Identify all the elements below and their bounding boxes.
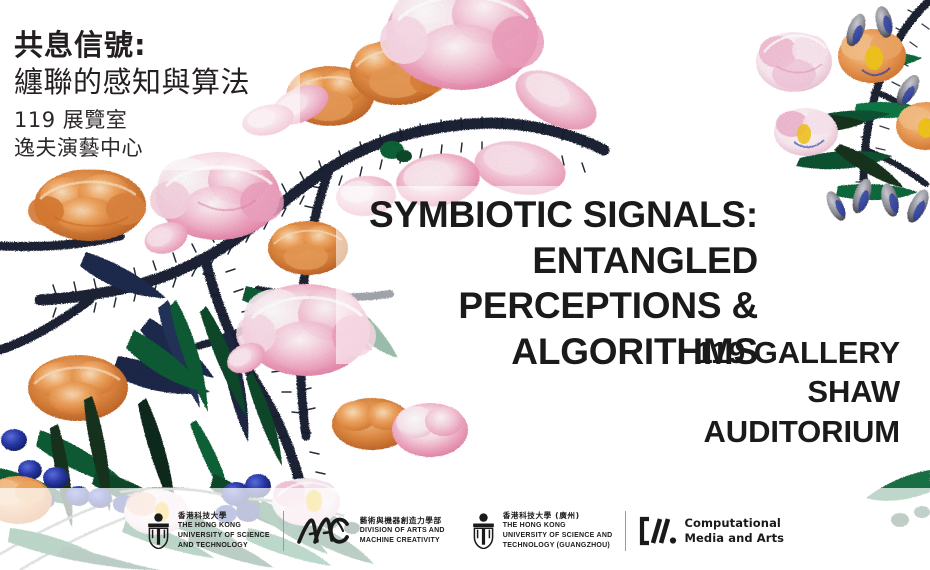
english-title-line2: ENTANGLED [369,238,758,284]
english-title-line3: PERCEPTIONS & [369,283,758,329]
chinese-title-line1: 共息信號: [14,28,250,63]
hkust-gz-english-line2: UNIVERSITY OF SCIENCE AND [503,531,613,541]
hkust-english-line2: UNIVERSITY OF SCIENCE [178,531,270,541]
amc-logo-text: 藝術與機器創造力學部 DIVISION OF ARTS AND MACHINE … [360,516,445,546]
venue-line1: 119 GALLERY [696,333,901,372]
venue-block: 119 GALLERY SHAW AUDITORIUM [696,333,901,451]
chinese-title-line2: 纏聯的感知與算法 [14,64,250,101]
hkust-english-line1: THE HONG KONG [178,521,270,531]
venue-line3: AUDITORIUM [696,412,901,451]
amc-brush-logo-icon [297,515,353,547]
logo-hkust-guangzhou: 香港科技大學 (廣州) THE HONG KONG UNIVERSITY OF … [458,511,626,551]
logo-bar: 香港科技大學 THE HONG KONG UNIVERSITY OF SCIEN… [0,500,930,562]
chinese-title-block: 共息信號: 纏聯的感知與算法 119 展覽室 逸夫演藝中心 [14,28,250,163]
cma-logo-text: Computational Media and Arts [684,516,784,547]
hkust-chinese-name: 香港科技大學 [178,511,270,521]
amc-chinese-name: 藝術與機器創造力學部 [360,516,445,526]
english-title-line1: SYMBIOTIC SIGNALS: [369,192,758,238]
cma-bracket-slash-logo-icon [639,516,677,546]
chinese-venue-line2: 逸夫演藝中心 [14,135,250,163]
cma-name-line2: Media and Arts [684,531,784,546]
chinese-venue-line1: 119 展覽室 [14,107,250,135]
hkust-logo-text: 香港科技大學 THE HONG KONG UNIVERSITY OF SCIEN… [178,511,270,551]
hkust-crest-icon [146,513,171,549]
hkust-gz-logo-text: 香港科技大學 (廣州) THE HONG KONG UNIVERSITY OF … [503,511,613,551]
hkust-crest-icon [471,513,496,549]
logo-amc: 藝術與機器創造力學部 DIVISION OF ARTS AND MACHINE … [284,515,458,547]
hkust-gz-english-line1: THE HONG KONG [503,521,613,531]
logo-hkust: 香港科技大學 THE HONG KONG UNIVERSITY OF SCIEN… [133,511,283,551]
amc-english-line2: MACHINE CREATIVITY [360,536,445,546]
logo-cma: Computational Media and Arts [626,516,797,547]
hkust-english-line3: AND TECHNOLOGY [178,541,270,551]
hkust-gz-chinese-name: 香港科技大學 (廣州) [503,511,613,521]
amc-english-line1: DIVISION OF ARTS AND [360,526,445,536]
exhibition-poster: 共息信號: 纏聯的感知與算法 119 展覽室 逸夫演藝中心 SYMBIOTIC … [0,0,930,570]
venue-line2: SHAW [696,372,901,411]
cma-name-line1: Computational [684,516,784,531]
hkust-gz-english-line3: TECHNOLOGY (GUANGZHOU) [503,541,613,551]
